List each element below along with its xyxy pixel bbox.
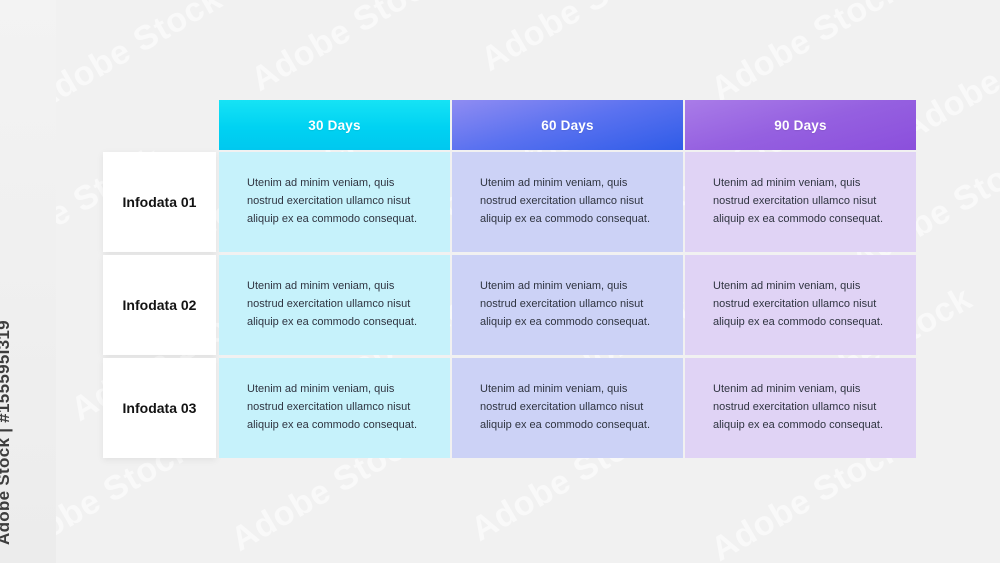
watermark-text: Adobe Stock (245, 0, 449, 100)
table-cell[interactable]: Utenim ad minim veniam, quis nostrud exe… (685, 358, 916, 458)
row-label: Infodata 02 (103, 255, 216, 355)
cell-body: Utenim ad minim veniam, quis nostrud exe… (685, 152, 916, 252)
table-cell[interactable]: Utenim ad minim veniam, quis nostrud exe… (452, 152, 683, 252)
cell-body: Utenim ad minim veniam, quis nostrud exe… (452, 152, 683, 252)
cell-body: Utenim ad minim veniam, quis nostrud exe… (219, 358, 450, 458)
table-header-row: 30 Days 60 Days 90 Days (103, 100, 918, 150)
column-header-60-days[interactable]: 60 Days (452, 100, 683, 150)
cell-body: Utenim ad minim veniam, quis nostrud exe… (685, 255, 916, 355)
cell-text: Utenim ad minim veniam, quis nostrud exe… (713, 278, 888, 331)
cell-text: Utenim ad minim veniam, quis nostrud exe… (247, 175, 422, 228)
row-label-cell[interactable]: Infodata 01 (103, 152, 216, 252)
cell-body: Utenim ad minim veniam, quis nostrud exe… (685, 358, 916, 458)
row-label: Infodata 01 (103, 152, 216, 252)
row-label-cell[interactable]: Infodata 02 (103, 255, 216, 355)
cell-text: Utenim ad minim veniam, quis nostrud exe… (480, 381, 655, 434)
table-cell[interactable]: Utenim ad minim veniam, quis nostrud exe… (452, 358, 683, 458)
row-label-cell[interactable]: Infodata 03 (103, 358, 216, 458)
column-header-label: 90 Days (685, 100, 916, 150)
header-corner-spacer (103, 100, 216, 150)
column-header-label: 60 Days (452, 100, 683, 150)
cell-body: Utenim ad minim veniam, quis nostrud exe… (219, 152, 450, 252)
cell-text: Utenim ad minim veniam, quis nostrud exe… (247, 278, 422, 331)
cell-text: Utenim ad minim veniam, quis nostrud exe… (713, 175, 888, 228)
cell-body: Utenim ad minim veniam, quis nostrud exe… (219, 255, 450, 355)
column-header-label: 30 Days (219, 100, 450, 150)
cell-body: Utenim ad minim veniam, quis nostrud exe… (452, 358, 683, 458)
credit-label: Adobe Stock | #155595I319 (0, 320, 14, 545)
table-row: Infodata 02 Utenim ad minim veniam, quis… (103, 255, 918, 355)
table-row: Infodata 01 Utenim ad minim veniam, quis… (103, 152, 918, 252)
table-cell[interactable]: Utenim ad minim veniam, quis nostrud exe… (219, 358, 450, 458)
credit-strip: Adobe Stock | #155595I319 (0, 0, 56, 563)
table-cell[interactable]: Utenim ad minim veniam, quis nostrud exe… (219, 255, 450, 355)
cell-text: Utenim ad minim veniam, quis nostrud exe… (480, 278, 655, 331)
cell-text: Utenim ad minim veniam, quis nostrud exe… (247, 381, 422, 434)
column-header-30-days[interactable]: 30 Days (219, 100, 450, 150)
row-label: Infodata 03 (103, 358, 216, 458)
watermark-text: Adobe Stock (475, 0, 679, 80)
comparison-table: 30 Days 60 Days 90 Days Infodata 01 Uten… (103, 100, 918, 459)
table-cell[interactable]: Utenim ad minim veniam, quis nostrud exe… (452, 255, 683, 355)
table-cell[interactable]: Utenim ad minim veniam, quis nostrud exe… (685, 152, 916, 252)
table-row: Infodata 03 Utenim ad minim veniam, quis… (103, 358, 918, 458)
cell-text: Utenim ad minim veniam, quis nostrud exe… (713, 381, 888, 434)
column-header-90-days[interactable]: 90 Days (685, 100, 916, 150)
table-cell[interactable]: Utenim ad minim veniam, quis nostrud exe… (685, 255, 916, 355)
cell-body: Utenim ad minim veniam, quis nostrud exe… (452, 255, 683, 355)
table-cell[interactable]: Utenim ad minim veniam, quis nostrud exe… (219, 152, 450, 252)
watermark-text: Adobe Stock (705, 0, 909, 110)
cell-text: Utenim ad minim veniam, quis nostrud exe… (480, 175, 655, 228)
